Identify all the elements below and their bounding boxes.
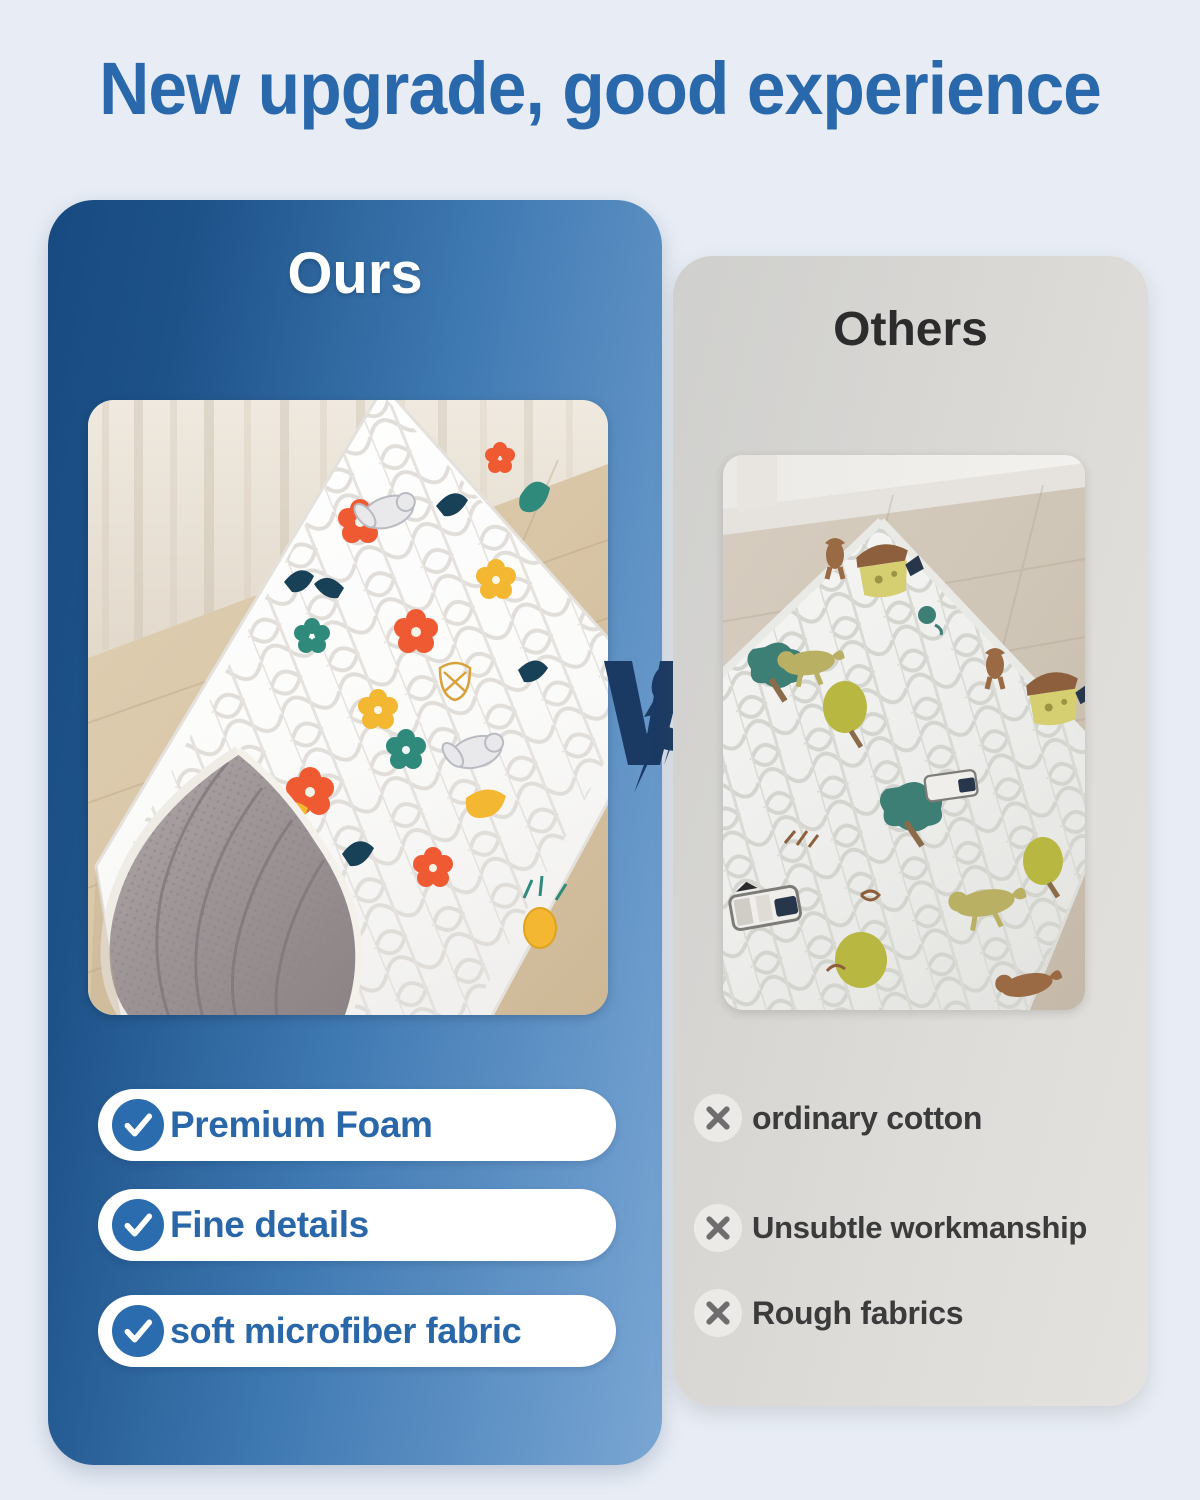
others-feature-item-2[interactable]: Unsubtle workmanship (694, 1198, 1144, 1258)
check-icon (112, 1305, 164, 1357)
cross-icon (694, 1094, 742, 1142)
others-feature-label: Unsubtle workmanship (752, 1210, 1087, 1246)
cross-icon (694, 1204, 742, 1252)
ours-feature-item-2[interactable]: Fine details (98, 1189, 616, 1261)
check-icon (112, 1099, 164, 1151)
ours-product-photo (88, 400, 608, 1015)
others-panel-heading: Others (673, 302, 1148, 357)
ours-feature-item-1[interactable]: Premium Foam (98, 1089, 616, 1161)
others-product-photo (723, 455, 1085, 1010)
check-icon (112, 1199, 164, 1251)
cross-icon (694, 1289, 742, 1337)
ours-feature-label: soft microfiber fabric (170, 1310, 521, 1352)
ours-feature-label: Fine details (170, 1204, 369, 1246)
ours-feature-label: Premium Foam (170, 1104, 433, 1146)
ours-panel-heading: Ours (48, 240, 662, 307)
others-feature-item-3[interactable]: Rough fabrics (694, 1283, 1144, 1343)
page-title: New upgrade, good experience (36, 46, 1164, 131)
others-feature-label: ordinary cotton (752, 1100, 982, 1137)
others-feature-label: Rough fabrics (752, 1295, 963, 1332)
ours-feature-item-3[interactable]: soft microfiber fabric (98, 1295, 616, 1367)
others-feature-item-1[interactable]: ordinary cotton (694, 1088, 1144, 1148)
